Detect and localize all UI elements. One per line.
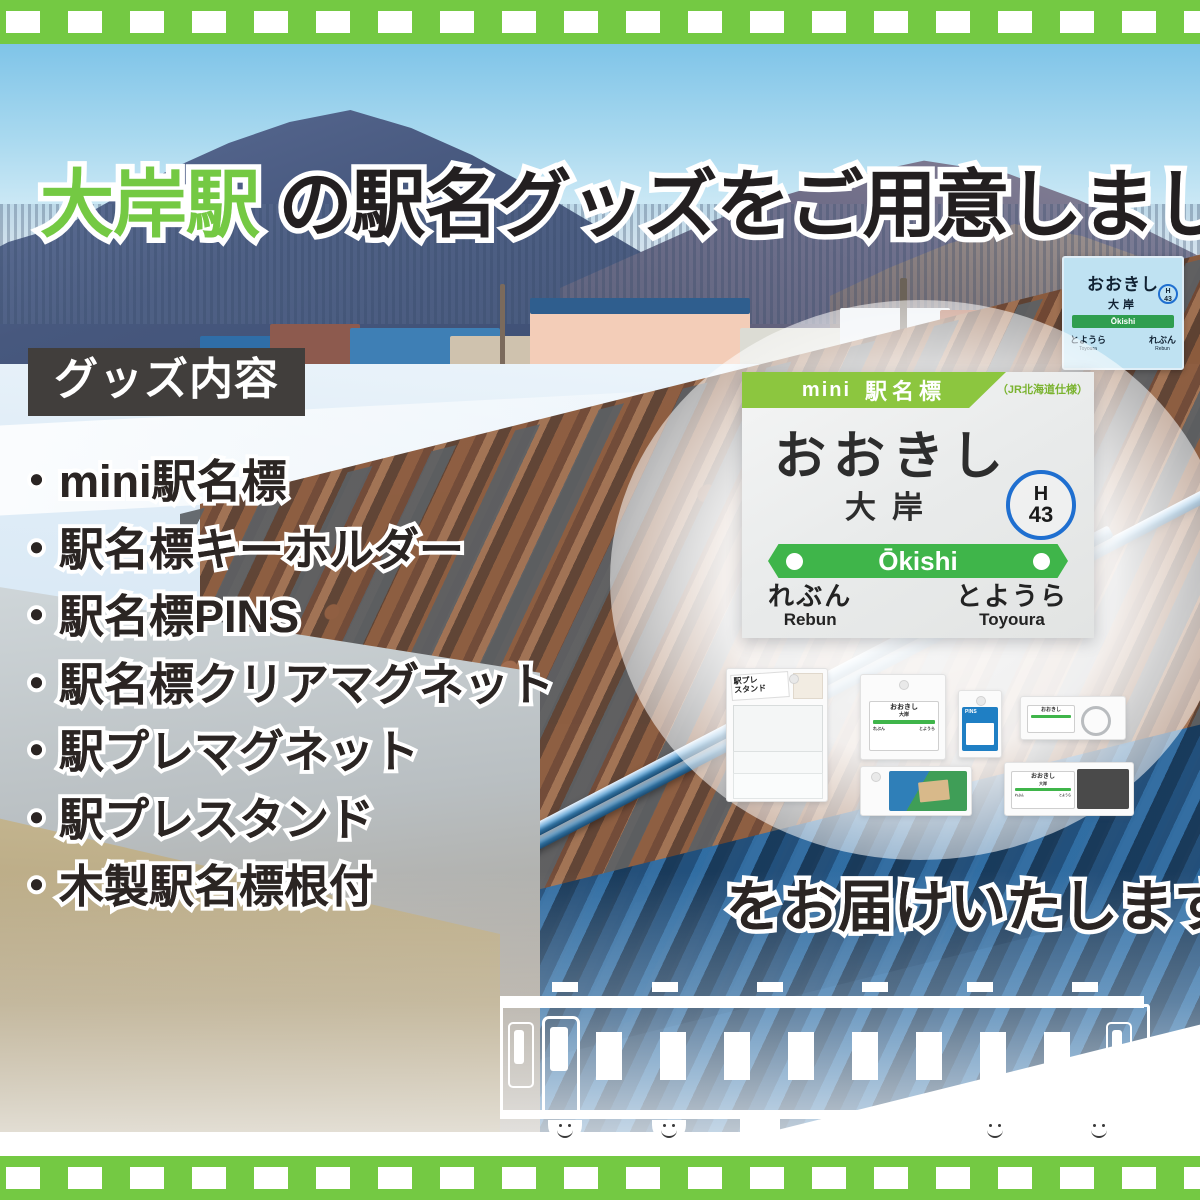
train-wheel-face	[652, 1120, 686, 1142]
stand-acrylic-a	[733, 705, 823, 755]
wheel-eye	[989, 1124, 992, 1127]
sign-direction-bar: Ōkishi	[768, 544, 1068, 578]
hang-hole	[899, 680, 909, 690]
wheel-eye	[663, 1124, 666, 1127]
film-strip-top	[0, 0, 1200, 44]
list-item: ・mini駅名標 ・mini駅名標	[14, 448, 654, 516]
underfloor-equipment	[940, 1119, 980, 1137]
perforation	[1060, 11, 1094, 33]
magnet-kanji: 大岸	[1012, 782, 1074, 786]
mini-sign-bar	[873, 720, 935, 724]
magnet-prev: れぶん	[1015, 793, 1024, 797]
title-station-name-fill: 大岸駅	[40, 163, 259, 246]
stand-label: 駅プレ スタンド	[730, 671, 790, 701]
sign-header-ekimei: 駅名標	[865, 374, 946, 406]
perforation	[812, 1167, 846, 1189]
sign-station-romaji: Ōkishi	[878, 546, 957, 577]
train-wheel-face	[548, 1120, 582, 1142]
perforation	[378, 11, 412, 33]
film-strip-bottom	[0, 1156, 1200, 1200]
wheel-smile	[1091, 1129, 1107, 1138]
bg-sign-num: 43	[1164, 296, 1172, 303]
goods-item-text-fill: ・駅プレマグネット	[14, 718, 419, 786]
bg-sign-right-kana: れぶん	[1149, 333, 1176, 346]
perforation	[6, 1167, 40, 1189]
stand-acrylic-c	[733, 773, 823, 799]
perforation	[750, 1167, 784, 1189]
keyholder-kana: おおきし	[1028, 708, 1074, 713]
perforation	[502, 11, 536, 33]
adjacent-stations: れぶん Rebun とようら Toyoura	[742, 583, 1094, 630]
station-line-letter: H	[1034, 484, 1048, 504]
train-window	[916, 1032, 942, 1080]
pins-blue-card: PINS	[962, 707, 998, 751]
hang-hole	[976, 696, 986, 706]
product-wooden-netsuke-package	[860, 766, 972, 816]
product-pins-package: PINS	[958, 690, 1002, 758]
wooden-tag	[918, 779, 950, 802]
train-underframe	[500, 1110, 1144, 1119]
perforation	[874, 1167, 908, 1189]
perforation	[254, 11, 288, 33]
perforation	[440, 11, 474, 33]
list-item: ・木製駅名標根付 ・木製駅名標根付	[14, 853, 654, 921]
train-cab-window	[508, 1022, 534, 1088]
prev-station-kana: れぶん	[768, 583, 852, 610]
perforation	[130, 1167, 164, 1189]
perforation	[998, 11, 1032, 33]
goods-item-text-fill: ・駅名標クリアマグネット	[14, 651, 554, 719]
train-window	[660, 1032, 686, 1080]
perforation	[1184, 1167, 1200, 1189]
mini-sign-prev: れぶん	[873, 726, 885, 732]
pins-window	[966, 723, 994, 745]
perforation	[750, 11, 784, 33]
perforation	[68, 11, 102, 33]
train-window	[788, 1032, 814, 1080]
bg-sign-number: H 43	[1158, 284, 1178, 304]
list-item: ・駅名標クリアマグネット ・駅名標クリアマグネット	[14, 651, 654, 719]
direction-dot-right	[1033, 553, 1050, 570]
delivery-text: をお届けいたします をお届けいたします	[726, 862, 1200, 943]
wheel-eye	[1102, 1124, 1105, 1127]
train-window	[596, 1032, 622, 1080]
keyholder-bar	[1031, 715, 1071, 718]
adjacent-station-prev: れぶん Rebun	[768, 583, 852, 630]
train-cab-window-rear	[1106, 1022, 1132, 1088]
roof-vent	[652, 982, 678, 992]
product-mini-sign-package: おおきし 大岸 れぶん とようら	[860, 674, 946, 760]
perforation	[874, 11, 908, 33]
perforation	[68, 1167, 102, 1189]
underfloor-equipment	[740, 1119, 780, 1137]
goods-item-text-fill: ・駅名標キーホルダー	[14, 516, 464, 584]
magnet-next: とようら	[1059, 793, 1071, 797]
perforation	[626, 1167, 660, 1189]
wheel-smile	[557, 1129, 573, 1138]
perforation	[936, 1167, 970, 1189]
wheel-eye	[559, 1124, 562, 1127]
product-photos: 駅プレ スタンド おおきし 大岸 れぶん とようら	[726, 666, 1146, 816]
bg-sign-arrow: Ōkishi	[1072, 315, 1174, 328]
wheel-eye	[1093, 1124, 1096, 1127]
stand-label-line2: スタンド	[734, 683, 767, 694]
next-station-kana: とようら	[956, 583, 1068, 610]
perforation	[812, 11, 846, 33]
station-number-badge: H 43	[1006, 470, 1076, 540]
station-number: 43	[1029, 504, 1053, 526]
underfloor-equipment	[840, 1119, 880, 1137]
perforation	[998, 1167, 1032, 1189]
netsuke-card	[889, 771, 967, 811]
perforation	[564, 11, 598, 33]
magnet-sign-card: おおきし 大岸 れぶん とようら	[1011, 771, 1075, 809]
roof-vent	[757, 982, 783, 992]
train-window	[724, 1032, 750, 1080]
perforation	[440, 1167, 474, 1189]
wheel-eye	[672, 1124, 675, 1127]
roof-vent	[967, 982, 993, 992]
train-graphic	[492, 990, 1152, 1135]
list-item: ・駅名標PINS ・駅名標PINS	[14, 583, 654, 651]
perforation	[130, 11, 164, 33]
train-window	[980, 1032, 1006, 1080]
perforation	[936, 11, 970, 33]
wheel-eye	[998, 1124, 1001, 1127]
next-station-romaji: Toyoura	[956, 610, 1068, 630]
delivery-text-fill: をお届けいたします	[726, 862, 1200, 943]
keyholder-sign-card: おおきし	[1027, 705, 1075, 733]
page-title: 大岸駅 の駅名グッズをご用意しました 大岸駅 の駅名グッズをご用意しました	[40, 168, 1180, 242]
goods-item-text-fill: ・駅名標PINS	[14, 583, 299, 651]
prev-station-romaji: Rebun	[768, 610, 852, 630]
goods-list: ・mini駅名標 ・mini駅名標 ・駅名標キーホルダー ・駅名標キーホルダー …	[14, 448, 654, 921]
direction-dot-left	[786, 553, 803, 570]
perforation	[192, 1167, 226, 1189]
list-item: ・駅プレスタンド ・駅プレスタンド	[14, 786, 654, 854]
perforation	[6, 11, 40, 33]
goods-content-label: グッズ内容	[54, 355, 279, 404]
goods-item-text-fill: ・駅プレスタンド	[14, 786, 374, 854]
sign-header: mini 駅名標	[742, 372, 1006, 408]
wheel-smile	[661, 1129, 677, 1138]
sign-header-mini: mini	[802, 379, 851, 402]
perforation	[688, 1167, 722, 1189]
hang-hole	[789, 674, 799, 684]
sign-spec-note: （JR北海道仕様）	[997, 381, 1088, 397]
list-item: ・駅プレマグネット ・駅プレマグネット	[14, 718, 654, 786]
page-title-overlay: 大岸駅 の駅名グッズをご用意しました	[40, 168, 1200, 242]
roof-vent	[862, 982, 888, 992]
poster-canvas: おおきし 大岸 H 43 Ōkishi とようら Toyoura れぶん Reb…	[0, 0, 1200, 1200]
roof-vent	[1072, 982, 1098, 992]
adjacent-station-next: とようら Toyoura	[956, 583, 1068, 630]
title-rest-fill: の駅名グッズをご用意しました	[259, 163, 1200, 246]
perforation	[254, 1167, 288, 1189]
mini-sign-card: おおきし 大岸 れぶん とようら	[869, 701, 939, 751]
mini-sign-next: とようら	[919, 726, 935, 732]
mini-sign-kanji: 大岸	[870, 713, 938, 718]
perforation	[502, 1167, 536, 1189]
pins-label: PINS	[962, 707, 998, 717]
goods-item-text-fill: ・木製駅名標根付	[14, 853, 374, 921]
perforation	[1184, 11, 1200, 33]
mini-sign-kana: おおきし	[870, 704, 938, 711]
sign-station-kana: おおきし	[742, 414, 1042, 489]
perforation	[626, 11, 660, 33]
goods-content-banner: グッズ内容	[28, 348, 305, 416]
perforation	[1060, 1167, 1094, 1189]
mini-station-sign: mini 駅名標 （JR北海道仕様） おおきし 大岸 H 43 Ōkishi れ…	[742, 372, 1094, 638]
bg-sign-right-romaji: Rebun	[1149, 346, 1176, 352]
wheel-eye	[568, 1124, 571, 1127]
train-door	[542, 1016, 580, 1118]
perforation	[192, 11, 226, 33]
roof-vent	[552, 982, 578, 992]
sign-station-kanji: 大岸	[742, 482, 1042, 527]
perforation	[316, 1167, 350, 1189]
perforation	[1122, 11, 1156, 33]
train-wheel-face	[1082, 1120, 1116, 1142]
product-stand-package: 駅プレ スタンド	[726, 668, 828, 802]
perforation	[688, 11, 722, 33]
wheel-smile	[987, 1129, 1003, 1138]
list-item: ・駅名標キーホルダー ・駅名標キーホルダー	[14, 516, 654, 584]
perforation	[378, 1167, 412, 1189]
magnet-bar	[1015, 788, 1071, 791]
perforation	[564, 1167, 598, 1189]
train-window	[1044, 1032, 1070, 1080]
goods-item-text-fill: ・mini駅名標	[14, 448, 287, 516]
keyring-icon	[1081, 706, 1111, 736]
door-window	[550, 1027, 568, 1071]
hang-hole	[871, 772, 881, 782]
train-wheel-face	[978, 1120, 1012, 1142]
magnet-back	[1077, 769, 1129, 809]
perforation	[316, 11, 350, 33]
magnet-kana: おおきし	[1012, 774, 1074, 780]
perforation	[1122, 1167, 1156, 1189]
product-keyholder-package: おおきし	[1020, 696, 1126, 740]
train-window	[852, 1032, 878, 1080]
bg-sign-letter: H	[1165, 288, 1170, 295]
product-magnet-package: おおきし 大岸 れぶん とようら	[1004, 762, 1134, 816]
